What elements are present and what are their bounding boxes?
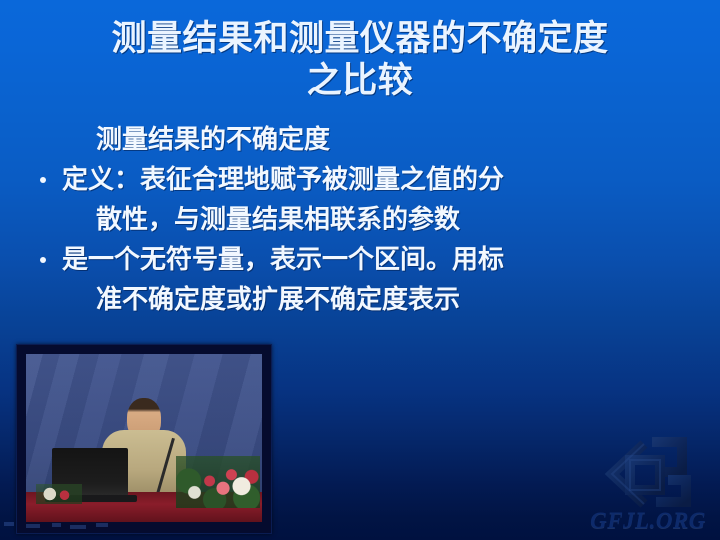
watermark: GFJL.ORG xyxy=(582,430,714,536)
slide-body: 测量结果的不确定度 定义：表征合理地赋予被测量之值的分 散性，与测量结果相联系的… xyxy=(0,120,720,320)
gfjl-logo-icon xyxy=(582,430,714,516)
compression-artifacts xyxy=(0,510,200,540)
video-flower-arrangement xyxy=(176,456,260,508)
bullet-dot-icon xyxy=(40,257,46,263)
title-line-2: 之比较 xyxy=(0,60,720,102)
title-line-1: 测量结果和测量仪器的不确定度 xyxy=(0,18,720,60)
video-flower-arrangement-left xyxy=(36,484,82,504)
body-bullet-line-1: 定义：表征合理地赋予被测量之值的分 xyxy=(0,160,720,200)
body-text: 准不确定度或扩展不确定度表示 xyxy=(96,285,460,315)
body-text: 是一个无符号量，表示一个区间。用标 xyxy=(62,245,504,275)
body-text: 散性，与测量结果相联系的参数 xyxy=(96,205,460,235)
slide-canvas: 测量结果和测量仪器的不确定度 之比较 测量结果的不确定度 定义：表征合理地赋予被… xyxy=(0,0,720,540)
video-picture xyxy=(26,354,262,522)
bullet-dot-icon xyxy=(40,177,46,183)
body-continuation-line-2: 准不确定度或扩展不确定度表示 xyxy=(0,280,720,320)
lecture-video-overlay[interactable] xyxy=(16,344,272,534)
body-continuation-line-1: 散性，与测量结果相联系的参数 xyxy=(0,200,720,240)
body-text: 定义：表征合理地赋予被测量之值的分 xyxy=(62,165,504,195)
body-bullet-line-2: 是一个无符号量，表示一个区间。用标 xyxy=(0,240,720,280)
watermark-text: GFJL.ORG xyxy=(582,508,714,534)
slide-title: 测量结果和测量仪器的不确定度 之比较 xyxy=(0,18,720,102)
body-subheading: 测量结果的不确定度 xyxy=(0,120,720,160)
